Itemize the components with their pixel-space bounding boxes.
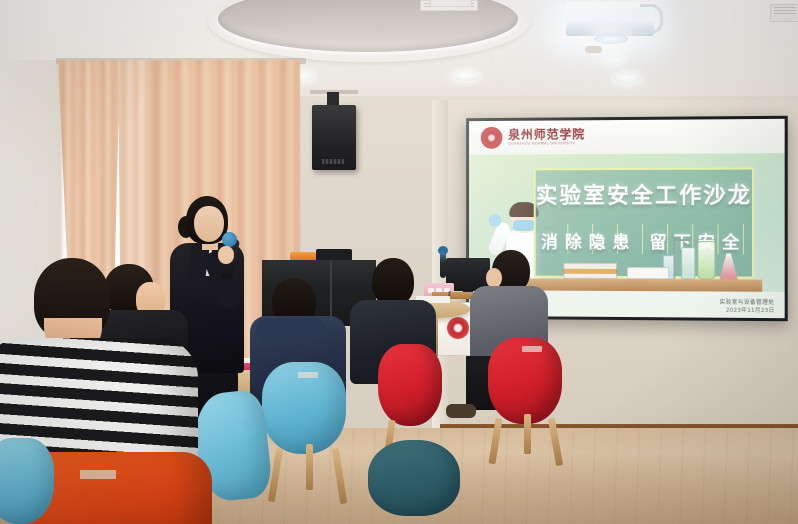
reagent-bottle-icon xyxy=(697,241,715,279)
slide-subtitle: 消除隐患 留下安全 xyxy=(536,228,752,253)
slide-footer-date: 2023年11月23日 xyxy=(720,307,775,315)
hoodie-hood xyxy=(256,318,326,342)
presenter-face xyxy=(194,206,224,242)
microphone-windscreen xyxy=(222,232,237,247)
downlight-icon xyxy=(452,72,478,81)
smoke-detector-icon xyxy=(585,46,602,53)
chair-leg xyxy=(524,414,531,454)
ottoman-teal[interactable] xyxy=(368,440,460,516)
white-box-icon xyxy=(627,267,669,279)
chair-label xyxy=(80,470,116,479)
downlight-icon xyxy=(614,74,640,83)
university-seal-icon xyxy=(481,127,503,149)
beaker-icon xyxy=(681,247,695,279)
lab-bench xyxy=(526,279,762,292)
slide-footer: 实验室与设备管理处 2023年11月23日 xyxy=(720,300,775,315)
projector-lens-icon xyxy=(594,34,628,44)
wall-speaker-icon xyxy=(312,105,356,170)
university-name-cn: 泉州师范学院 xyxy=(508,129,585,141)
ceiling-vent xyxy=(430,0,472,7)
attendee-ear xyxy=(486,268,502,288)
chair-leg xyxy=(306,444,313,490)
cartoon-hand xyxy=(489,214,502,227)
projector-arm xyxy=(640,4,663,34)
chair-shell[interactable] xyxy=(378,344,442,426)
chair-label xyxy=(298,372,318,378)
book-stack-icon xyxy=(563,263,617,279)
chair-label xyxy=(522,346,542,352)
university-name-block: 泉州师范学院 QUANZHOU NORMAL UNIVERSITY xyxy=(508,129,585,147)
slide-footer-organization: 实验室与设备管理处 xyxy=(720,300,775,308)
attendee-shoe xyxy=(446,404,476,418)
face-mask-icon xyxy=(513,220,535,231)
downlight-icon xyxy=(604,56,626,64)
slide-header: 泉州师范学院 QUANZHOU NORMAL UNIVERSITY xyxy=(469,119,785,156)
ceiling-vent xyxy=(770,4,798,22)
banner-seal-icon xyxy=(447,317,469,339)
speaker-grill xyxy=(322,159,344,164)
lab-stand-arm xyxy=(673,239,689,241)
presenter-hand xyxy=(218,246,234,264)
university-name-en: QUANZHOU NORMAL UNIVERSITY xyxy=(508,143,585,147)
meeting-room-photo: 泉州师范学院 QUANZHOU NORMAL UNIVERSITY 实验室安全 xyxy=(0,0,798,524)
slide-main-title: 实验室安全工作沙龙 xyxy=(536,178,752,210)
attendee-head xyxy=(372,258,414,306)
